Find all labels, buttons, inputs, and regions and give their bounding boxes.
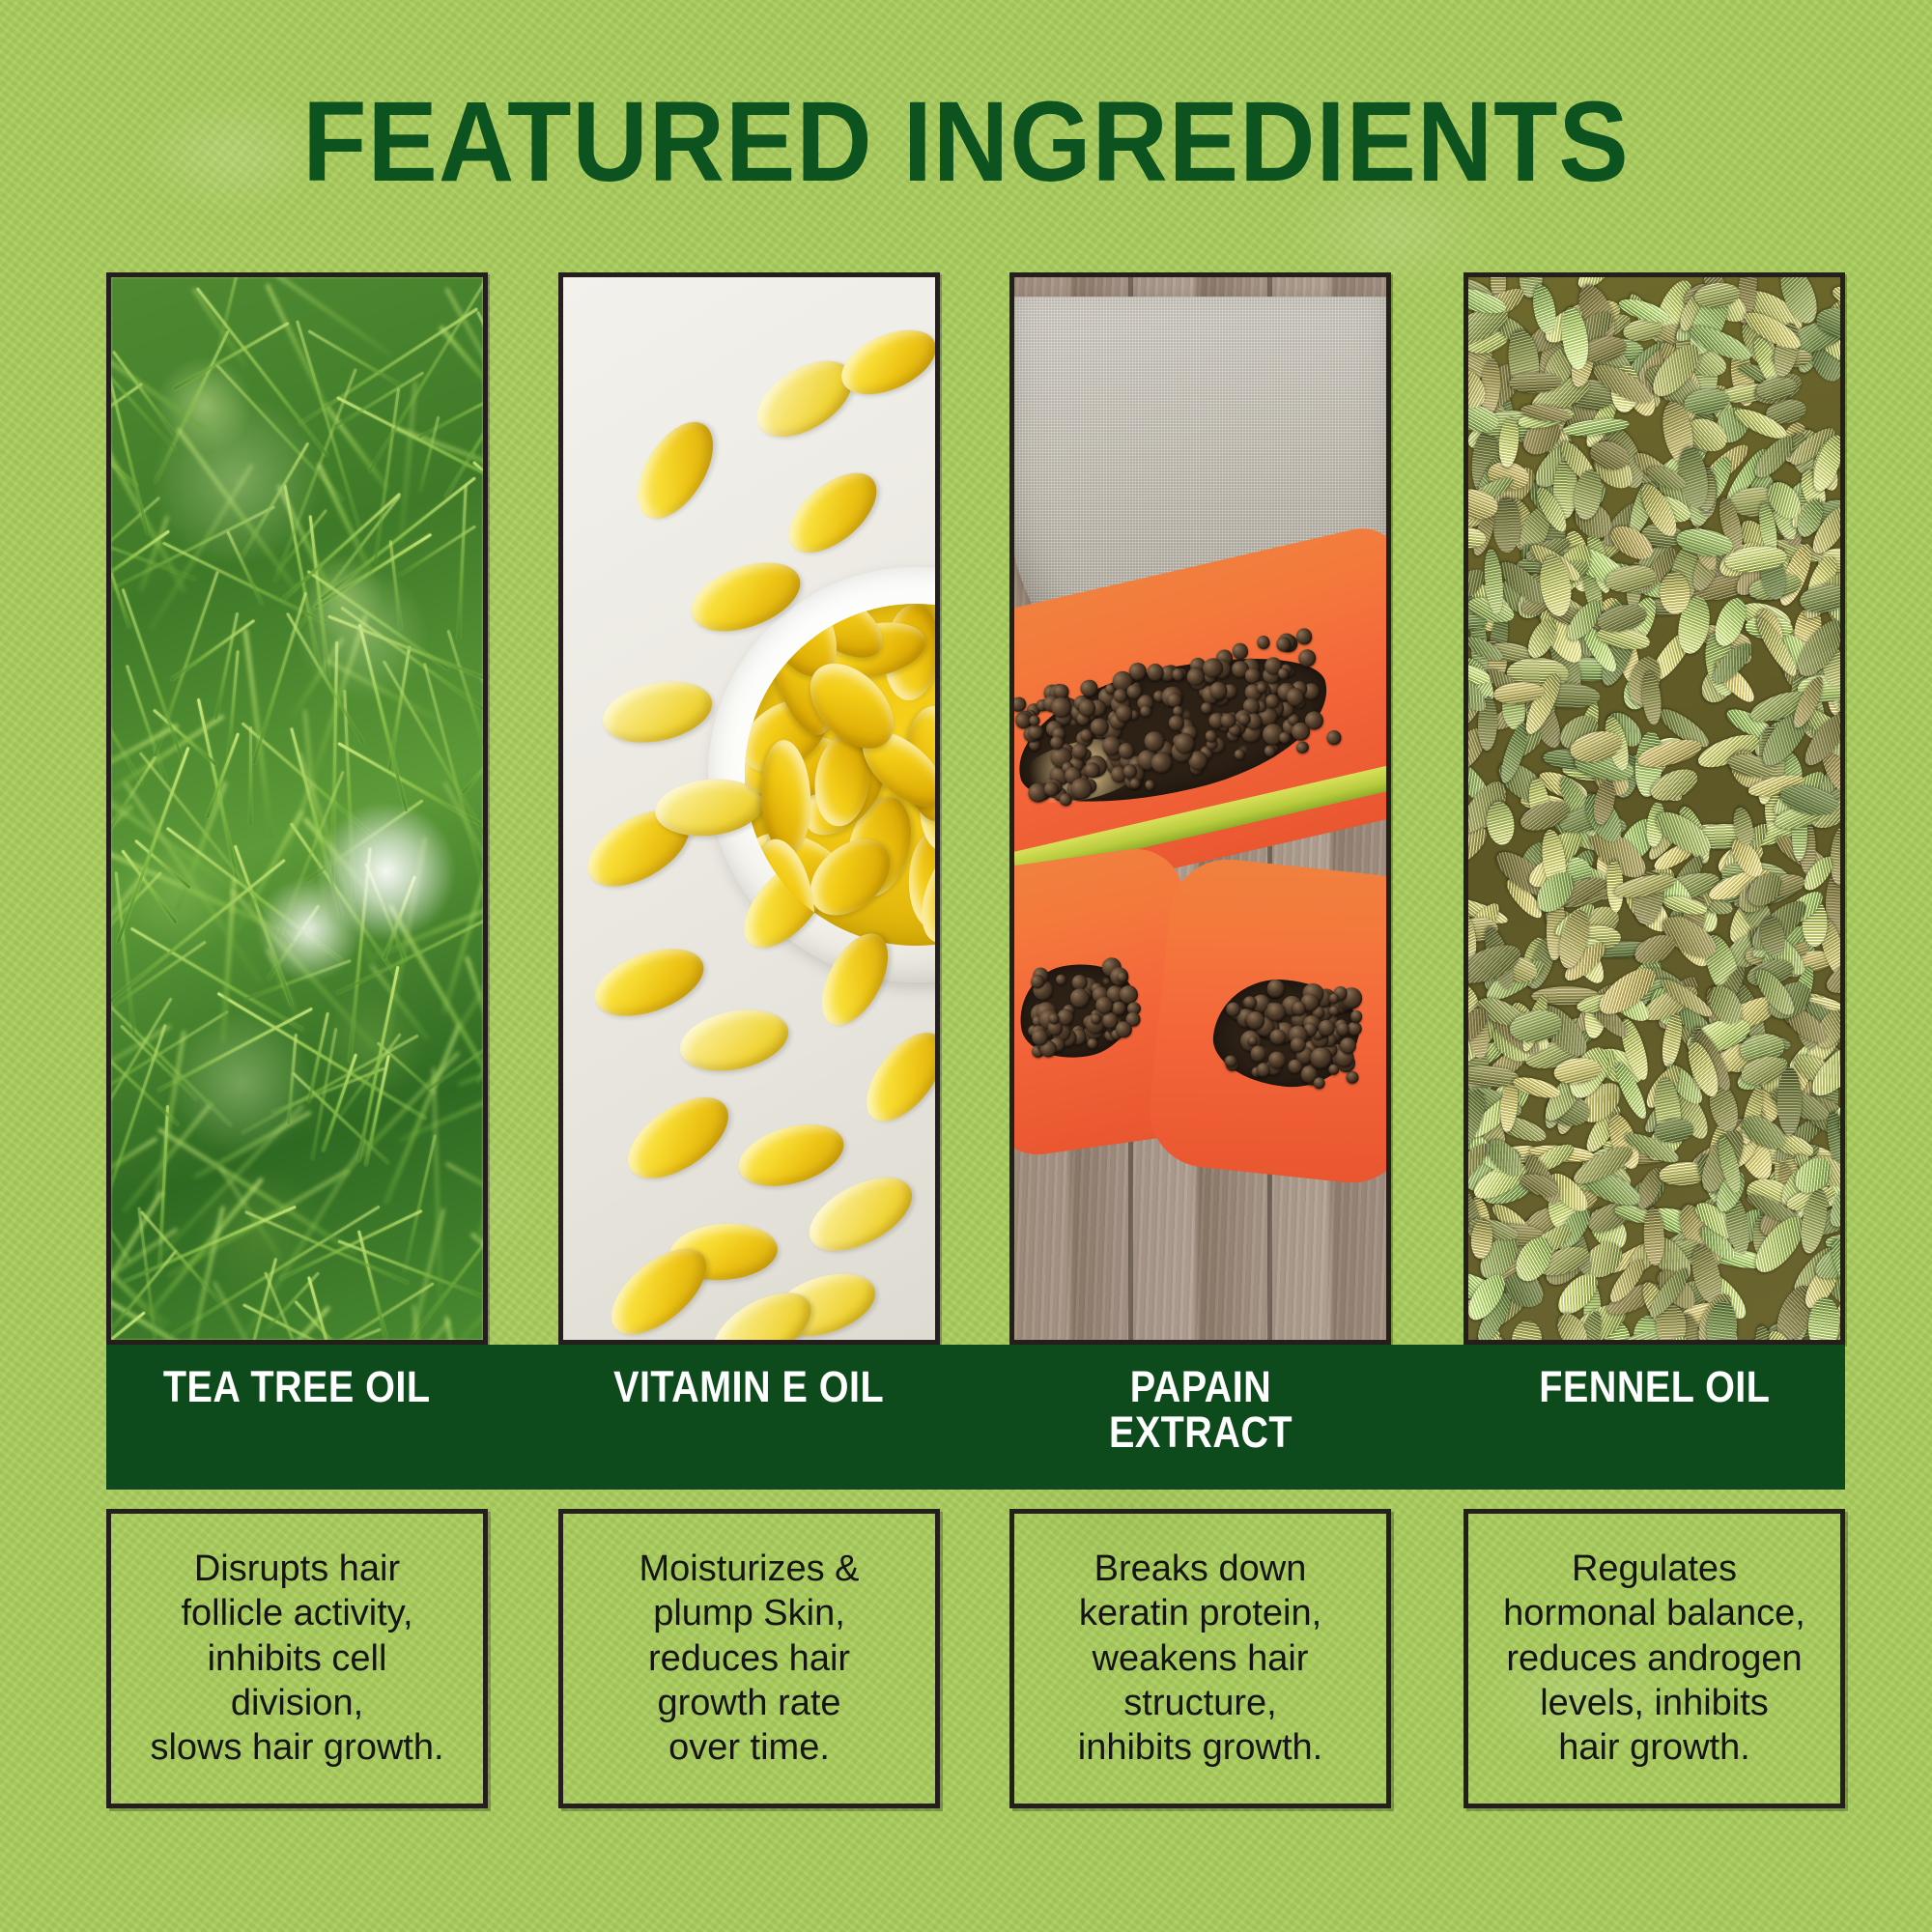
- description-box-vitamin-e: Moisturizes & plump Skin, reduces hair g…: [558, 1509, 940, 1808]
- needle: [462, 733, 488, 794]
- description-box-fennel: Regulates hormonal balance, reduces andr…: [1463, 1509, 1845, 1808]
- ingredient-column-fennel: [1463, 272, 1845, 1345]
- needle: [419, 415, 440, 491]
- papaya-seed: [1267, 1051, 1286, 1069]
- needle: [433, 1067, 443, 1309]
- needle: [218, 272, 243, 347]
- needle: [475, 1002, 488, 1083]
- tea-tree-blossom-secondary-icon: [256, 876, 362, 982]
- ingredient-label: FENNEL OIL: [1539, 1364, 1770, 1409]
- needle: [192, 288, 247, 369]
- description-text: Moisturizes & plump Skin, reduces hair g…: [639, 1547, 859, 1771]
- papaya-seed: [1265, 979, 1286, 999]
- papaya-seed: [1295, 740, 1310, 754]
- fennel-oil-image: [1463, 272, 1845, 1345]
- needle: [485, 570, 488, 618]
- fennel-seed: [1843, 545, 1845, 611]
- description-box-tea-tree: Disrupts hair follicle activity, inhibit…: [106, 1509, 488, 1808]
- ingredient-column-tea-tree: [106, 272, 488, 1345]
- vitamin-e-oil-image: [558, 272, 940, 1345]
- bokeh-highlight: [150, 393, 324, 567]
- papaya-seed: [1139, 705, 1152, 719]
- papaya-seed: [1345, 1070, 1359, 1085]
- label-cell-vitamin-e: VITAMIN E OIL: [558, 1345, 940, 1490]
- infographic-canvas: FEATURED INGREDIENTS: [0, 0, 1932, 1932]
- needle: [446, 630, 488, 765]
- needle: [487, 722, 488, 786]
- needle: [226, 1258, 277, 1345]
- ingredient-label: TEA TREE OIL: [163, 1364, 431, 1409]
- papaya-seed: [1144, 780, 1155, 791]
- needle: [440, 326, 488, 391]
- needle: [170, 619, 255, 681]
- needle: [139, 1210, 219, 1302]
- label-cell-fennel: FENNEL OIL: [1463, 1345, 1845, 1490]
- description-text: Breaks down keratin protein, weakens hai…: [1078, 1547, 1322, 1771]
- papaya-seed: [1231, 641, 1250, 661]
- papaya-seed: [1336, 1022, 1350, 1037]
- papaya-seed: [1313, 1077, 1325, 1090]
- papaya-seed: [1350, 1010, 1363, 1024]
- papaya-seed: [1087, 1037, 1098, 1049]
- label-cell-papain: PAPAIN EXTRACT: [1009, 1345, 1391, 1490]
- needle: [445, 1162, 488, 1200]
- needle: [457, 485, 467, 639]
- description-text: Disrupts hair follicle activity, inhibit…: [150, 1547, 443, 1771]
- papaya-seed: [1249, 1045, 1266, 1063]
- needle: [106, 941, 207, 1017]
- bokeh-highlight: [295, 567, 430, 702]
- papain-extract-image: [1009, 272, 1391, 1345]
- seed-cluster: [1214, 971, 1370, 1094]
- papaya-seed: [1328, 1064, 1340, 1075]
- needle: [307, 330, 402, 388]
- ingredient-label: VITAMIN E OIL: [613, 1364, 884, 1409]
- bowl-capsule-cluster: [745, 604, 940, 946]
- label-cell-tea-tree: TEA TREE OIL: [106, 1345, 488, 1490]
- needle: [485, 532, 488, 613]
- ingredient-label: PAPAIN EXTRACT: [1108, 1364, 1292, 1456]
- papaya-seed: [1256, 635, 1271, 650]
- papaya-seed: [1234, 748, 1247, 761]
- page-title: FEATURED INGREDIENTS: [77, 85, 1855, 199]
- seed-cluster: [1018, 952, 1146, 1060]
- papaya-seed: [1056, 974, 1067, 985]
- ingredient-column-papain: [1009, 272, 1391, 1345]
- bokeh-highlight: [169, 1011, 314, 1156]
- papaya-seed: [1296, 648, 1318, 669]
- ingredient-label-band: TEA TREE OIL VITAMIN E OIL PAPAIN EXTRAC…: [106, 1345, 1845, 1490]
- description-text: Regulates hormonal balance, reduces andr…: [1503, 1547, 1805, 1771]
- tea-tree-oil-image: [106, 272, 488, 1345]
- needle: [106, 272, 107, 357]
- description-box-papain: Breaks down keratin protein, weakens hai…: [1009, 1509, 1391, 1808]
- needle: [249, 726, 252, 825]
- fennel-seed: [1777, 1067, 1802, 1135]
- needle: [327, 1321, 451, 1345]
- papaya-seed: [1325, 729, 1343, 747]
- needle: [418, 379, 488, 439]
- ingredient-column-vitamin-e: [558, 272, 940, 1345]
- papaya-seed: [1328, 1006, 1339, 1016]
- needle: [299, 1328, 381, 1345]
- needle: [384, 1023, 462, 1204]
